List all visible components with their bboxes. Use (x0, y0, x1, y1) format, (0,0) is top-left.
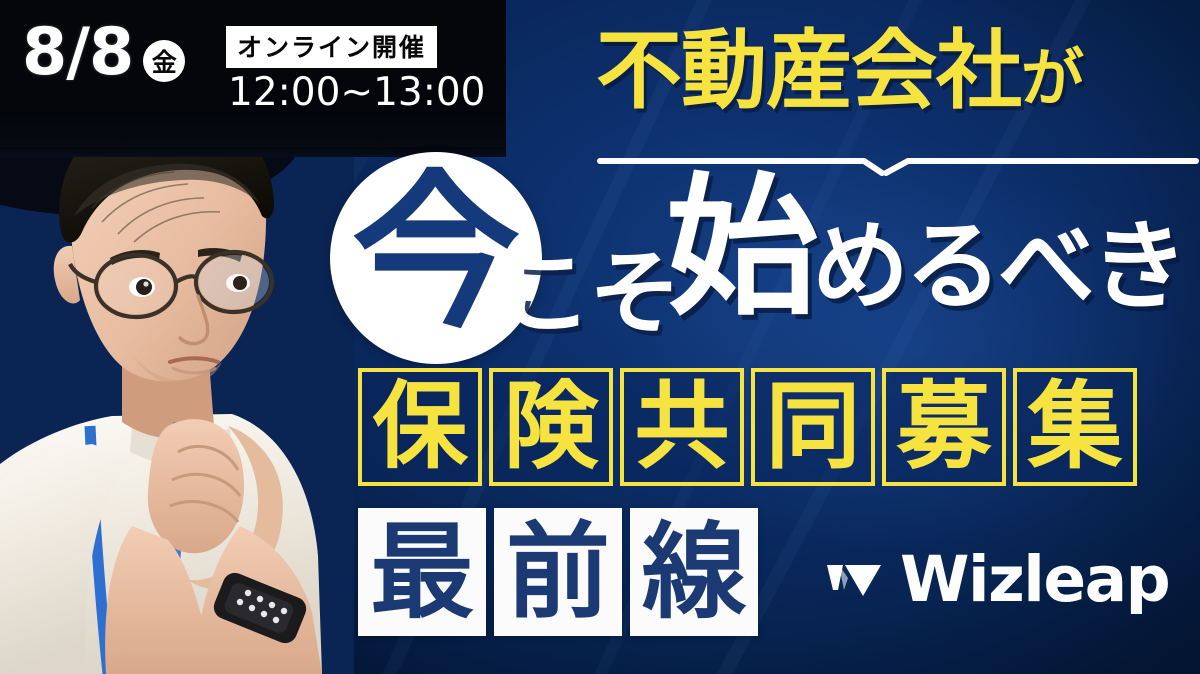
keyword-box: 保 (358, 368, 482, 486)
headline-line2: 始めるべき (666, 172, 1184, 324)
headline-line2-small: めるべき (812, 210, 1184, 323)
webinar-banner: 8/8 金 オンライン開催 12:00~13:00 不動産会社が 今 こそ 始め… (0, 0, 1200, 674)
headline-line1: 不動産会社が (596, 28, 1083, 114)
online-format-badge: オンライン開催 (226, 26, 437, 68)
presenter-photo (0, 96, 354, 674)
event-date-group: 8/8 金 (22, 22, 185, 84)
keyword-char: 同 (765, 380, 860, 475)
keyword-row-primary: 保 険 共 同 募 集 (358, 368, 1137, 486)
keyword-char: 険 (503, 380, 598, 475)
headline-line1-main: 不動産会社 (596, 21, 1021, 121)
headline-line1-suffix: が (1021, 42, 1083, 115)
keyword-box-white: 最 (358, 508, 486, 636)
keyword-char: 最 (370, 520, 474, 624)
brand-name: Wizleap (900, 548, 1169, 611)
event-time-range: 12:00~13:00 (228, 72, 485, 113)
keyword-box-white: 前 (494, 508, 622, 636)
keyword-char: 集 (1027, 380, 1122, 475)
keyword-box: 集 (1013, 368, 1137, 486)
keyword-char: 前 (506, 520, 610, 624)
koso-emphasis: こそ (500, 248, 678, 340)
day-of-week-badge: 金 (143, 40, 185, 82)
headline-line2-big: 始 (666, 159, 812, 336)
event-time-group: オンライン開催 12:00~13:00 (226, 26, 485, 113)
keyword-box-white: 線 (630, 508, 758, 636)
brand-logo: Wizleap (826, 548, 1169, 611)
wizleap-w-mark-icon (826, 560, 882, 600)
now-kanji: 今 (352, 169, 520, 337)
keyword-box: 募 (882, 368, 1006, 486)
keyword-box: 共 (620, 368, 744, 486)
keyword-box: 同 (751, 368, 875, 486)
keyword-char: 共 (634, 380, 729, 475)
keyword-box: 険 (489, 368, 613, 486)
keyword-char: 線 (642, 520, 746, 624)
keyword-char: 保 (372, 380, 467, 475)
keyword-row-secondary: 最 前 線 (358, 508, 758, 636)
event-date: 8/8 (22, 22, 133, 84)
keyword-char: 募 (896, 380, 991, 475)
